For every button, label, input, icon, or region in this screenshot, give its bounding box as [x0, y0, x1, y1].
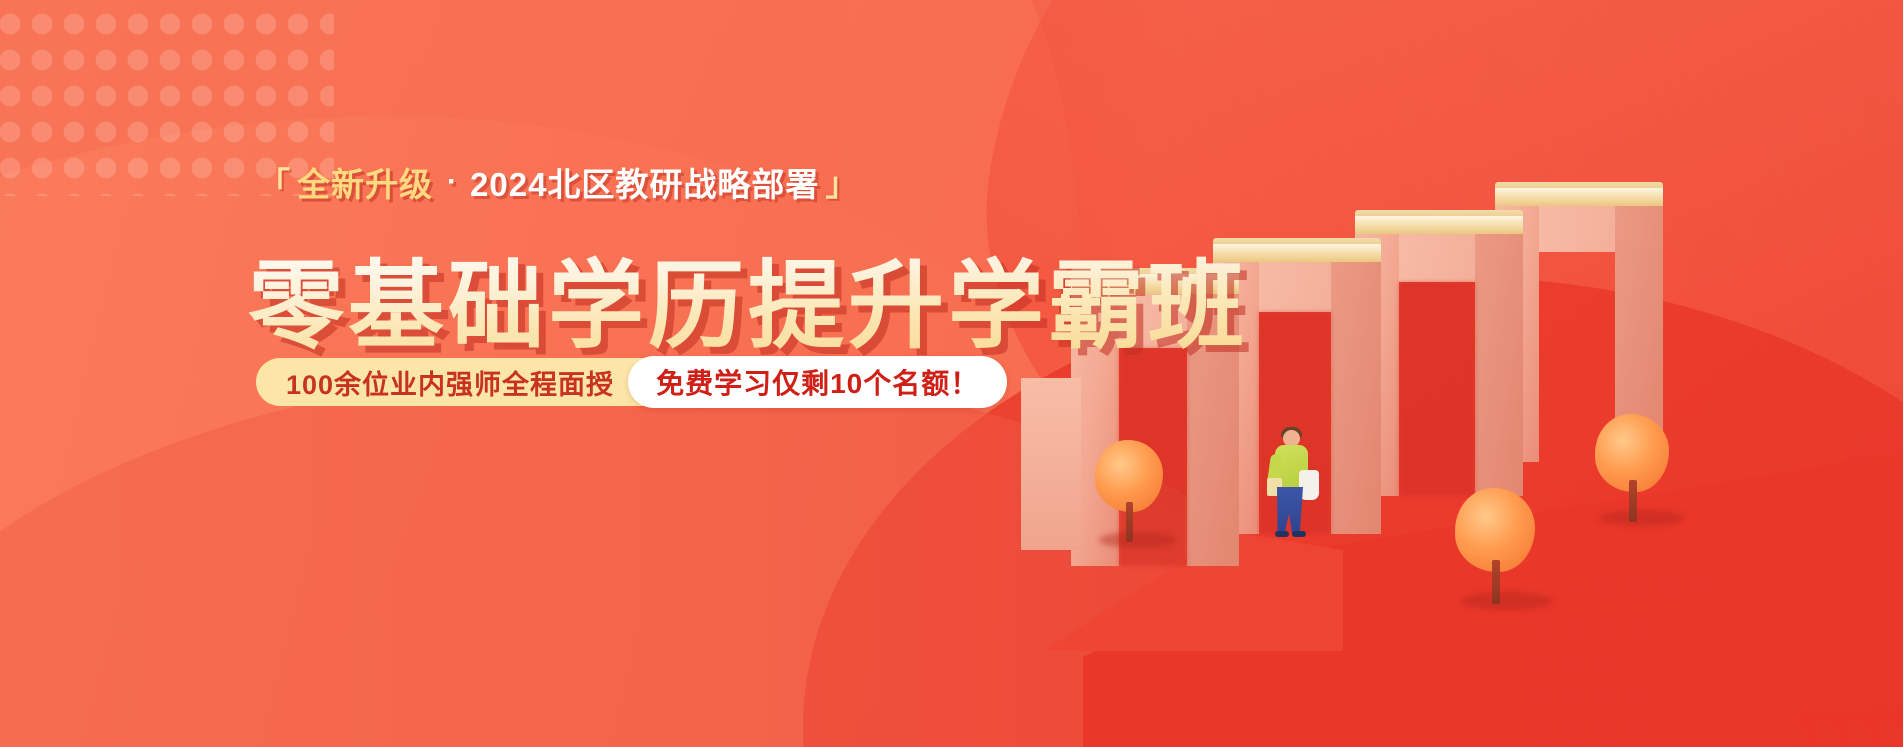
person-shoe-left	[1275, 531, 1289, 537]
person-legs	[1277, 487, 1303, 533]
bracket-right: 」	[825, 159, 858, 205]
tree-right	[1595, 414, 1673, 530]
tree-middle	[1455, 488, 1539, 612]
promo-banner: 「 全新升级 · 2024北区教研战略部署 」 零基础学历提升学霸班 100余位…	[0, 0, 1903, 747]
bracket-left: 「	[258, 159, 291, 205]
eyebrow-gold-text: 全新升级	[295, 158, 435, 206]
eyebrow-line: 「 全新升级 · 2024北区教研战略部署 」	[258, 158, 858, 206]
tagline-pills: 100余位业内强师全程面授 免费学习仅剩10个名额！	[256, 358, 1007, 406]
tree-left	[1095, 440, 1167, 550]
eyebrow-white-text: 2024北区教研战略部署	[470, 158, 819, 206]
illustration-scene	[1003, 0, 1903, 747]
eyebrow-separator: ·	[447, 165, 458, 199]
copy-block: 「 全新升级 · 2024北区教研战略部署 」 零基础学历提升学霸班 100余位…	[0, 0, 1100, 747]
person-shoe-right	[1292, 531, 1306, 537]
page-title: 零基础学历提升学霸班	[248, 228, 1248, 367]
quota-pill[interactable]: 免费学习仅剩10个名额！	[628, 356, 1007, 408]
teachers-pill[interactable]: 100余位业内强师全程面授	[256, 358, 644, 406]
student-figure	[1265, 430, 1325, 550]
